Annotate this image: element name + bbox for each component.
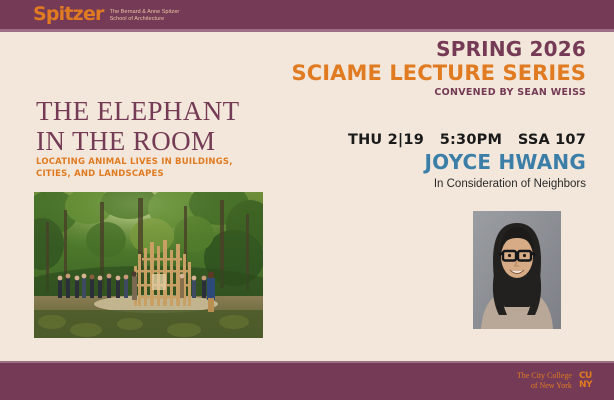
spitzer-school-logo: Spitzer The Bernard & Anne Spitzer Schoo…	[33, 4, 179, 24]
installation-photo	[34, 192, 263, 338]
series-name: SCIAME LECTURE SERIES	[291, 61, 586, 85]
ccny-line-2: of New York	[517, 381, 572, 391]
event-datetime-location: THU 2|19 5:30PM SSA 107	[348, 132, 586, 148]
spitzer-subtitle: The Bernard & Anne Spitzer School of Arc…	[110, 4, 180, 23]
speaker-portrait	[473, 211, 561, 329]
lecture-title: THE ELEPHANT IN THE ROOM	[36, 96, 296, 156]
ccny-line-1: The City College	[517, 371, 572, 381]
spitzer-wordmark: Spitzer	[33, 4, 104, 24]
speaker-name: JOYCE HWANG	[424, 150, 586, 174]
lecture-title-line-1: THE ELEPHANT	[36, 96, 296, 126]
series-season: SPRING 2026	[291, 38, 586, 61]
ccny-wordmark: The City College of New York	[517, 371, 572, 390]
header-divider-rule	[0, 29, 614, 32]
spitzer-subtitle-line-2: School of Architecture	[110, 16, 180, 23]
lecture-poster: Spitzer The Bernard & Anne Spitzer Schoo…	[0, 0, 614, 400]
speaker-portrait-artwork	[473, 211, 561, 329]
lecture-subtitle-line-2: CITIES, AND LANDSCAPES	[36, 168, 286, 180]
spitzer-subtitle-line-1: The Bernard & Anne Spitzer	[110, 9, 180, 16]
cuny-logo-icon: CU NY	[579, 372, 592, 390]
installation-photo-artwork	[34, 192, 263, 338]
cuny-line-2: NY	[579, 381, 592, 390]
footer-bar: The City College of New York CU NY	[0, 363, 614, 400]
series-title-block: SPRING 2026 SCIAME LECTURE SERIES CONVEN…	[291, 38, 586, 100]
lecture-subtitle: LOCATING ANIMAL LIVES IN BUILDINGS, CITI…	[36, 156, 286, 180]
ccny-cuny-lockup: The City College of New York CU NY	[517, 371, 592, 390]
talk-title: In Consideration of Neighbors	[434, 177, 586, 192]
lecture-subtitle-line-1: LOCATING ANIMAL LIVES IN BUILDINGS,	[36, 156, 286, 168]
series-convener: CONVENED BY SEAN WEISS	[291, 86, 586, 100]
lecture-title-line-2: IN THE ROOM	[36, 126, 296, 156]
